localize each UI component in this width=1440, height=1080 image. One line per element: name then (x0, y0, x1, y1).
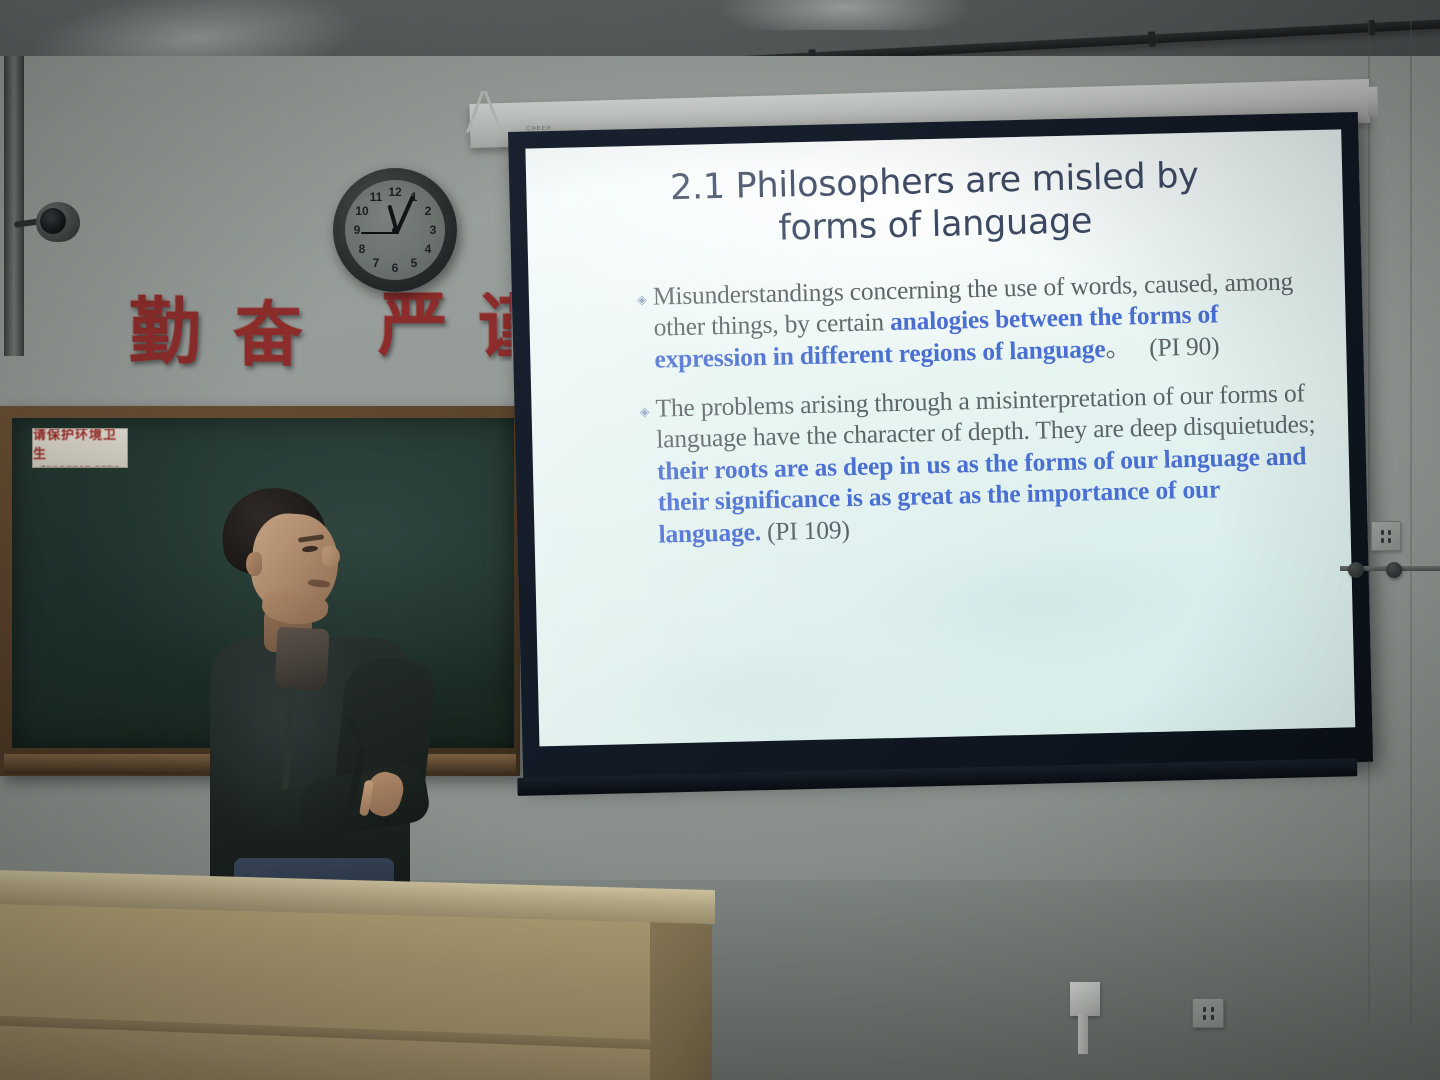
clock-numeral: 7 (368, 256, 384, 270)
wall-motto-char-2: 奋 (233, 300, 303, 370)
slide-bullet-item: ◈ The problems arising through a misinte… (557, 377, 1325, 553)
diamond-bullet-icon: ◈ (633, 404, 655, 418)
bullet-citation: (PI 109) (760, 515, 850, 546)
clock-numeral: 8 (354, 242, 370, 256)
wooden-lectern (0, 880, 725, 1080)
bullet-cjk-period: 。 (1105, 333, 1131, 364)
mount-bracket (1386, 562, 1402, 578)
clock-face: 12 1 2 3 4 5 6 7 8 9 10 11 (345, 180, 445, 280)
notice-sign-line1: 请保护环境卫生 (33, 428, 127, 462)
wall-motto-char-3: 严 (378, 290, 448, 360)
classroom-scene: 勤 奋 严 谨 12 1 2 3 4 5 6 7 8 9 10 11 请保护环境… (0, 0, 1440, 1080)
camera-lens-icon (40, 208, 66, 234)
slide-bullet-text: The problems arising through a misinterp… (655, 377, 1325, 551)
projector-screen: 2.1 Philosophers are misled by forms of … (508, 112, 1373, 782)
clock-numeral: 5 (406, 256, 422, 270)
clock-center-cap (392, 227, 399, 234)
wall-seam (1410, 0, 1412, 1024)
clock-numeral: 9 (349, 223, 365, 237)
mount-bracket (1348, 562, 1364, 578)
wall-clock: 12 1 2 3 4 5 6 7 8 9 10 11 (333, 168, 457, 292)
projected-slide: 2.1 Philosophers are misled by forms of … (525, 129, 1355, 746)
dome-security-camera (14, 196, 84, 248)
bullet-citation: (PI 90) (1149, 331, 1220, 362)
ceiling-light-glow-right (720, 0, 970, 30)
slide-bullet-list: ◈ Misunderstandings concerning the use o… (555, 265, 1325, 553)
clock-numeral: 10 (354, 204, 370, 218)
clock-numeral: 3 (425, 223, 441, 237)
diamond-bullet-icon: ◈ (631, 292, 653, 306)
wall-junction-box (1070, 982, 1100, 1016)
clock-numeral: 4 (420, 242, 436, 256)
wall-outlet-lower-right[interactable] (1192, 998, 1224, 1028)
slide-title: 2.1 Philosophers are misled by forms of … (552, 152, 1318, 257)
clock-numeral: 11 (368, 190, 384, 204)
blackboard-notice-sign: 请保护环境卫生 请勿乱扔纸屑杂物 谢谢配合 (32, 428, 128, 468)
presenter (190, 480, 450, 900)
notice-sign-line2: 请勿乱扔纸屑杂物 谢谢配合 (40, 464, 120, 469)
clock-numeral: 2 (420, 204, 436, 218)
bullet-highlight-text: their roots are as deep in us as the for… (657, 441, 1307, 548)
clock-numeral: 6 (387, 261, 403, 275)
wall-motto-char-1: 勤 (129, 296, 201, 368)
slide-bullet-item: ◈ Misunderstandings concerning the use o… (555, 265, 1321, 379)
wall-seam (1368, 0, 1370, 1024)
clock-numeral: 12 (387, 185, 403, 199)
presenter-collar (274, 627, 329, 692)
wall-outlet-upper-right[interactable] (1371, 521, 1401, 551)
slide-bullet-text: Misunderstandings concerning the use of … (653, 265, 1321, 376)
wall-conduit-stem (1078, 1014, 1088, 1054)
